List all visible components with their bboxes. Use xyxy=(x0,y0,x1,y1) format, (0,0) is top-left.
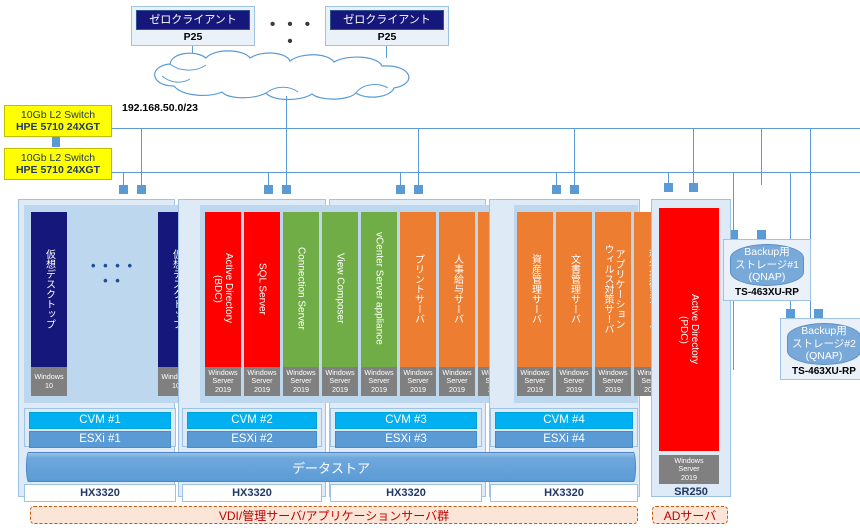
cvm-1: CVM #1 xyxy=(29,412,171,429)
group-ad: ADサーバ xyxy=(652,506,728,524)
vm-3-3: プリントサーバ Windows Server 2019 xyxy=(400,212,436,396)
switch-1-line1: 10Gb L2 Switch xyxy=(5,109,111,121)
drop-upper-f xyxy=(761,128,762,185)
ad-server-os: Windows Server 2019 xyxy=(659,455,719,484)
host-1-model: HX3320 xyxy=(24,484,176,502)
network-cloud xyxy=(140,50,430,102)
vm-2-1-os: Windows Server 2019 xyxy=(205,367,241,396)
ad-server-model: SR250 xyxy=(655,484,727,502)
drop-upper-e xyxy=(693,128,694,183)
cvm-3: CVM #3 xyxy=(335,412,477,429)
zero-client-1-model: P25 xyxy=(132,31,254,43)
vm-ellipsis-host1: • • • • • • xyxy=(85,258,140,288)
vm-4-3-label-wrap: アプリケーション ウィルス対策サーバ xyxy=(595,212,631,365)
host-4-model: HX3320 xyxy=(490,484,638,502)
storage-1-line2: ストレージ#1 xyxy=(735,259,799,272)
cvm-box-3: CVM #3 ESXi #3 xyxy=(330,408,482,447)
nic-adserver-a xyxy=(664,183,673,192)
drop-upper-d xyxy=(574,128,575,191)
vm-3-1-os: Windows Server 2019 xyxy=(322,367,358,396)
drop-upper-a xyxy=(141,128,142,191)
vm-4-1-label: 資産管理サーバ xyxy=(530,254,541,324)
cvm-4: CVM #4 xyxy=(495,412,633,429)
vm-3-4: 人事給与サーバ Windows Server 2019 xyxy=(439,212,475,396)
vm-3-4-label: 人事給与サーバ xyxy=(452,254,463,324)
datastore: データストア xyxy=(26,452,636,482)
host-2-model: HX3320 xyxy=(182,484,322,502)
vm-2-3: Connection Server Windows Server 2019 xyxy=(283,212,319,396)
cvm-2: CVM #2 xyxy=(187,412,317,429)
vm-1-1-label: 仮想デスクトップ xyxy=(44,249,55,329)
vm-4-1: 資産管理サーバ Windows Server 2019 xyxy=(517,212,553,396)
storage-1-cylinder: Backup用 ストレージ#1 (QNAP) xyxy=(730,244,804,286)
vm-4-3: アプリケーション ウィルス対策サーバ Windows Server 2019 xyxy=(595,212,631,396)
host-3-model: HX3320 xyxy=(330,484,482,502)
bus-lower xyxy=(112,172,860,173)
ad-server-vm-label-wrap: Active Directory (PDC) xyxy=(659,208,719,451)
vm-4-2: 文書管理サーバ Windows Server 2019 xyxy=(556,212,592,396)
vm-2-2: SQL Server Windows Server 2019 xyxy=(244,212,280,396)
vm-4-2-label-wrap: 文書管理サーバ xyxy=(556,212,592,365)
vm-4-3-os: Windows Server 2019 xyxy=(595,367,631,396)
nic-host2-a xyxy=(264,185,273,194)
switch-1-line2: HPE 5710 24XGT xyxy=(5,121,111,133)
ad-server-vm: Active Directory (PDC) xyxy=(659,208,719,451)
cvm-box-1: CVM #1 ESXi #1 xyxy=(24,408,176,447)
vm-3-3-label-wrap: プリントサーバ xyxy=(400,212,436,365)
storage-1-line3: (QNAP) xyxy=(749,271,786,284)
zero-client-2-model: P25 xyxy=(326,31,448,43)
vm-3-1: View Composer Windows Server 2019 xyxy=(322,212,358,396)
vm-2-2-label: SQL Server xyxy=(257,263,268,315)
nic-host1-b xyxy=(137,185,146,194)
vm-2-1: Active Directory (BDC) Windows Server 20… xyxy=(205,212,241,396)
storage-2-line3: (QNAP) xyxy=(806,350,843,363)
esxi-2: ESXi #2 xyxy=(187,431,317,448)
vm-1-1: 仮想デスクトップ Windows 10 xyxy=(31,212,67,396)
subnet-label: 192.168.50.0/23 xyxy=(122,102,198,114)
storage-1-line1: Backup用 xyxy=(744,246,790,259)
vm-3-2-os: Windows Server 2019 xyxy=(361,367,397,396)
drop-lower-e xyxy=(668,172,669,183)
vm-2-1-label-wrap: Active Directory (BDC) xyxy=(205,212,241,365)
zero-client-2-screen: ゼロクライアント xyxy=(330,10,444,30)
zero-client-1: ゼロクライアント P25 xyxy=(131,6,255,46)
switch-2-line2: HPE 5710 24XGT xyxy=(5,164,111,176)
vm-3-2-label: vCenter Server appliance xyxy=(374,232,385,345)
drop-upper-c xyxy=(418,128,419,191)
zero-client-1-screen: ゼロクライアント xyxy=(136,10,250,30)
zero-client-2: ゼロクライアント P25 xyxy=(325,6,449,46)
nic-host4-a xyxy=(552,185,561,194)
vm-4-2-os: Windows Server 2019 xyxy=(556,367,592,396)
zero-client-ellipsis: • • • • xyxy=(262,16,322,50)
vm-3-1-label: View Composer xyxy=(335,253,346,323)
nic-host4-b xyxy=(570,185,579,194)
esxi-3: ESXi #3 xyxy=(335,431,477,448)
storage-2-model: TS-463XU-RP xyxy=(781,366,860,378)
nic-adserver-b xyxy=(689,183,698,192)
vm-4-2-label: 文書管理サーバ xyxy=(569,254,580,324)
nic-host1-a xyxy=(119,185,128,194)
nic-storage1-b xyxy=(757,230,766,239)
storage-2-cylinder: Backup用 ストレージ#2 (QNAP) xyxy=(787,323,860,365)
drop-upper-b xyxy=(286,128,287,191)
switch-stack-link xyxy=(52,137,60,147)
storage-1: Backup用 ストレージ#1 (QNAP) TS-463XU-RP xyxy=(723,239,811,301)
vm-3-4-os: Windows Server 2019 xyxy=(439,367,475,396)
storage-2: Backup用 ストレージ#2 (QNAP) TS-463XU-RP xyxy=(780,318,860,380)
vm-3-2: vCenter Server appliance Windows Server … xyxy=(361,212,397,396)
vm-3-3-os: Windows Server 2019 xyxy=(400,367,436,396)
cvm-box-2: CVM #2 ESXi #2 xyxy=(182,408,322,447)
vm-2-3-label: Connection Server xyxy=(296,247,307,330)
vm-2-1-label: Active Directory (BDC) xyxy=(212,253,234,323)
vm-2-2-label-wrap: SQL Server xyxy=(244,212,280,365)
nic-host3-a xyxy=(396,185,405,194)
storage-1-model: TS-463XU-RP xyxy=(724,287,810,299)
switch-2: 10Gb L2 Switch HPE 5710 24XGT xyxy=(4,148,112,180)
esxi-4: ESXi #4 xyxy=(495,431,633,448)
nic-host3-b xyxy=(414,185,423,194)
wire-cloud-to-bus xyxy=(286,96,287,128)
storage-2-line2: ストレージ#2 xyxy=(792,338,856,351)
nic-storage2-b xyxy=(814,309,823,318)
vm-4-1-os: Windows Server 2019 xyxy=(517,367,553,396)
vm-1-1-os: Windows 10 xyxy=(31,367,67,396)
switch-2-line1: 10Gb L2 Switch xyxy=(5,152,111,164)
esxi-1: ESXi #1 xyxy=(29,431,171,448)
vm-4-3-label: アプリケーション ウィルス対策サーバ xyxy=(602,244,624,334)
nic-storage2-a xyxy=(786,309,795,318)
nic-host2-b xyxy=(282,185,291,194)
cvm-box-4: CVM #4 ESXi #4 xyxy=(490,408,638,447)
vm-4-1-label-wrap: 資産管理サーバ xyxy=(517,212,553,365)
vm-3-2-label-wrap: vCenter Server appliance xyxy=(361,212,397,365)
bus-upper xyxy=(112,128,860,129)
group-vdi: VDI/管理サーバ/アプリケーションサーバ群 xyxy=(30,506,638,524)
vm-2-2-os: Windows Server 2019 xyxy=(244,367,280,396)
vm-2-3-os: Windows Server 2019 xyxy=(283,367,319,396)
vm-2-3-label-wrap: Connection Server xyxy=(283,212,319,365)
storage-2-line1: Backup用 xyxy=(801,325,847,338)
vm-3-4-label-wrap: 人事給与サーバ xyxy=(439,212,475,365)
vm-3-3-label: プリントサーバ xyxy=(413,254,424,324)
ad-server-vm-label: Active Directory (PDC) xyxy=(678,294,700,364)
vm-3-1-label-wrap: View Composer xyxy=(322,212,358,365)
vm-1-1-label-wrap: 仮想デスクトップ xyxy=(31,212,67,365)
switch-1: 10Gb L2 Switch HPE 5710 24XGT xyxy=(4,105,112,137)
